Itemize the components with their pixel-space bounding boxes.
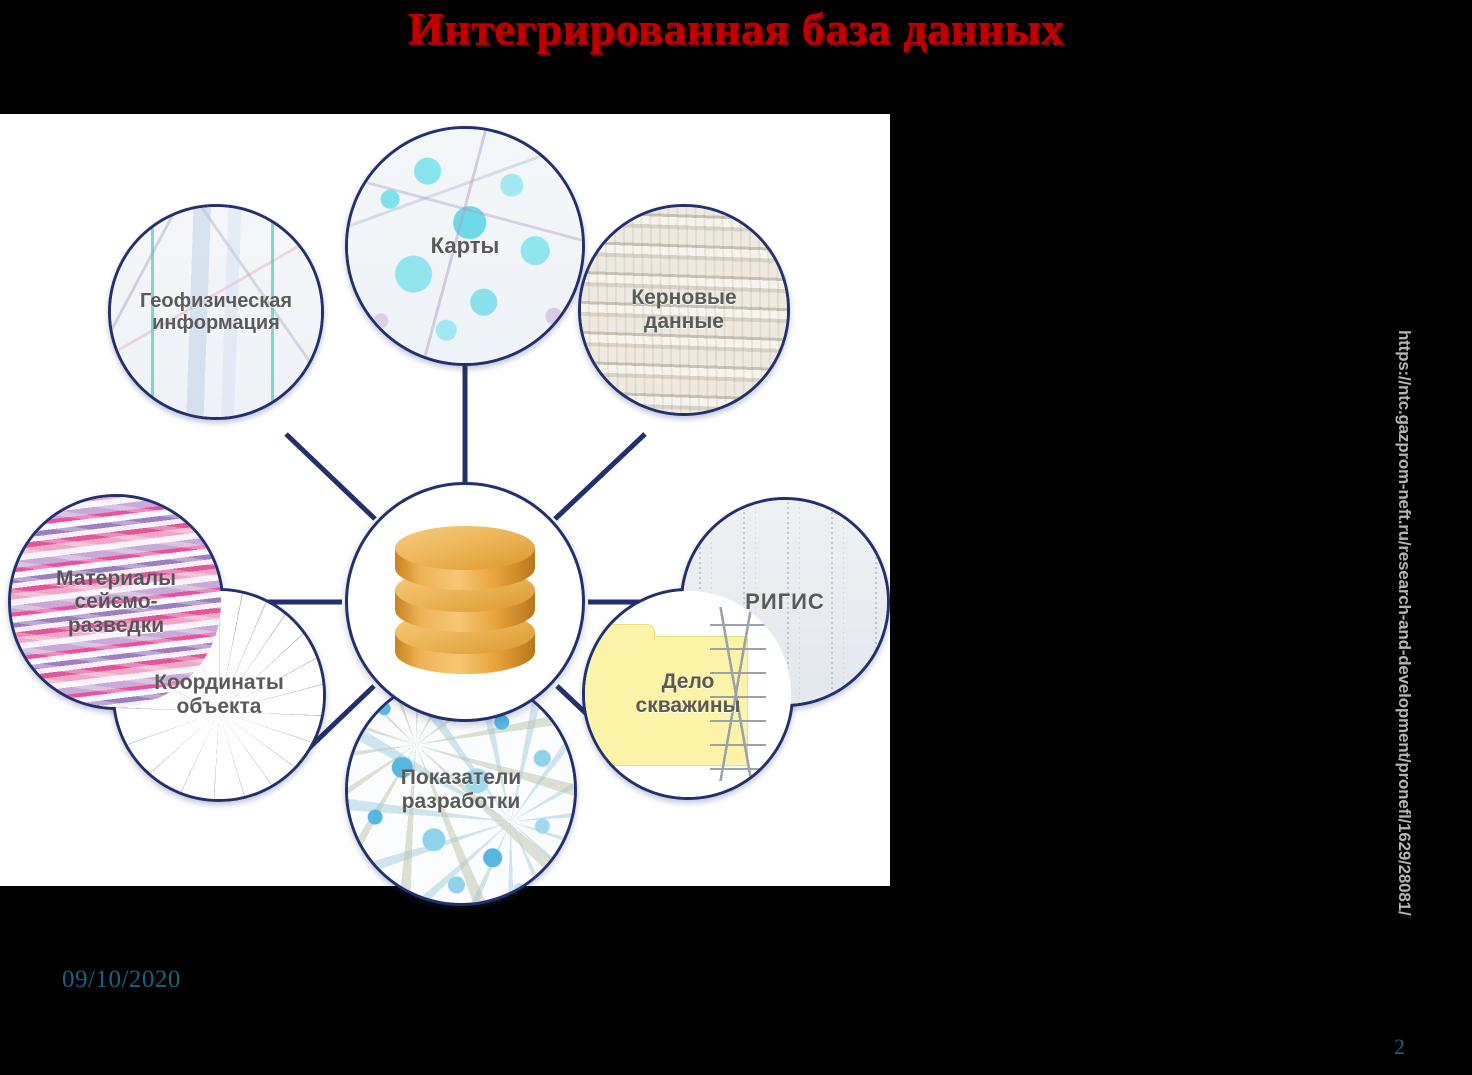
seismic-section-texture	[11, 497, 221, 707]
node-kern[interactable]: Керновые данные	[578, 204, 790, 416]
map-texture	[348, 129, 582, 363]
database-cylinder-icon	[389, 524, 541, 680]
node-karty[interactable]: Карты	[345, 126, 585, 366]
page-title: Интегрированная база данных	[0, 2, 1472, 55]
source-url-vertical: https://ntc.gazprom-neft.ru/research-and…	[1394, 330, 1414, 750]
core-sample-texture	[581, 207, 787, 413]
node-delo[interactable]: Дело скважины	[582, 588, 794, 800]
hub-and-spoke-diagram: Карты Керновые данные РИГИС Дело скважин…	[0, 114, 890, 886]
geophysics-map-texture	[111, 207, 321, 417]
page-number: 2	[1394, 1034, 1405, 1060]
slide-date: 09/10/2020	[62, 966, 181, 994]
derrick-icon	[710, 607, 766, 780]
well-file-texture	[585, 591, 791, 797]
node-seismo[interactable]: Материалы сейсмо- разведки	[8, 494, 224, 710]
node-geofizika[interactable]: Геофизическая информация	[108, 204, 324, 420]
diagram-panel: Карты Керновые данные РИГИС Дело скважин…	[0, 114, 890, 886]
central-database-node[interactable]	[345, 482, 585, 722]
